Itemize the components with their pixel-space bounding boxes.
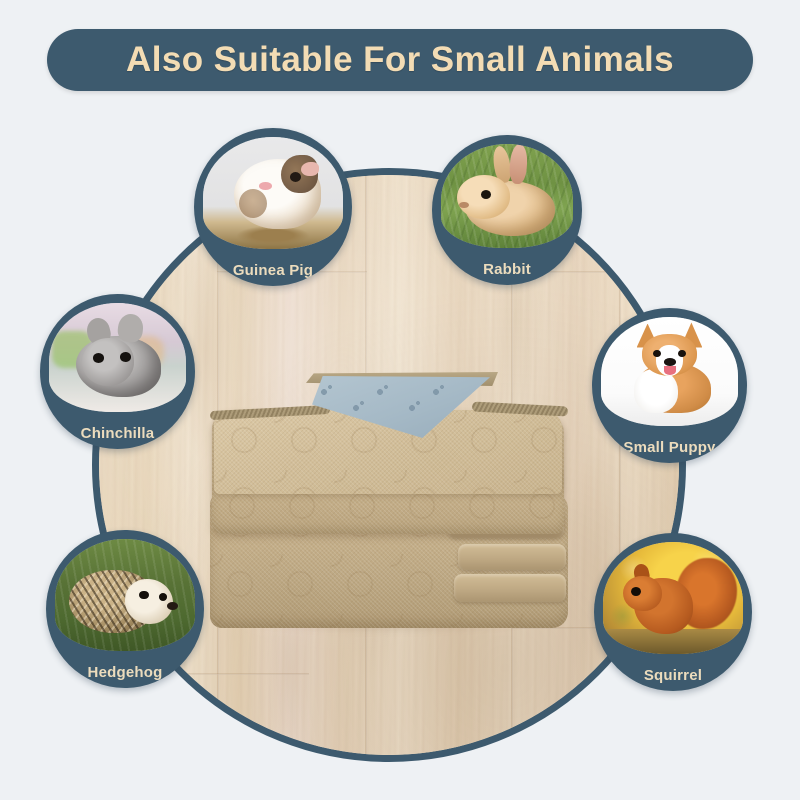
animal-head: [125, 579, 173, 624]
animal-ear: [116, 313, 143, 344]
animal-eye: [93, 353, 104, 363]
squirrel-photo: [603, 542, 743, 654]
photo-backdrop: [55, 539, 195, 651]
badge-label: Small Puppy: [592, 439, 747, 456]
animal-head: [623, 576, 662, 612]
badge-label: Guinea Pig: [194, 262, 352, 279]
badge-guinea-pig[interactable]: Guinea Pig: [194, 128, 352, 286]
animal-chest: [634, 369, 678, 413]
small-puppy-photo: [601, 317, 738, 426]
guinea-pig-photo: [203, 137, 343, 249]
badge-label: Hedgehog: [46, 664, 204, 681]
animal-nose: [259, 182, 272, 190]
animal-nose: [167, 602, 178, 610]
badge-chinchilla[interactable]: Chinchilla: [40, 294, 195, 449]
photo-backdrop: [49, 303, 186, 412]
title-banner: Also Suitable For Small Animals: [47, 29, 753, 91]
page-title: Also Suitable For Small Animals: [126, 40, 674, 80]
photo-backdrop: [203, 137, 343, 249]
animal-eye: [631, 587, 641, 596]
animal-eye: [139, 591, 149, 600]
badge-hedgehog[interactable]: Hedgehog: [46, 530, 204, 688]
animal-fur-patch: [239, 189, 267, 218]
badge-rabbit[interactable]: Rabbit: [432, 135, 582, 285]
hedgehog-photo: [55, 539, 195, 651]
product-image-blanket: [196, 368, 584, 658]
rabbit-photo: [441, 144, 573, 248]
animal-eye: [290, 172, 301, 182]
badge-squirrel[interactable]: Squirrel: [594, 533, 752, 691]
photo-backdrop: [441, 144, 573, 248]
animal-ear: [301, 162, 319, 177]
photo-backdrop: [601, 317, 738, 426]
blanket-fold-ridge: [458, 544, 566, 570]
animal-eye: [120, 352, 131, 362]
blanket-fold-ridge: [454, 574, 566, 602]
badge-label: Squirrel: [594, 667, 752, 684]
animal-tongue: [664, 366, 676, 375]
badge-small-puppy[interactable]: Small Puppy: [592, 308, 747, 463]
animal-head: [82, 338, 134, 386]
infographic-canvas: Also Suitable For Small Animals: [0, 0, 800, 800]
badge-label: Chinchilla: [40, 425, 195, 442]
chinchilla-photo: [49, 303, 186, 412]
photo-backdrop: [603, 542, 743, 654]
animal-eye: [159, 593, 167, 601]
badge-label: Rabbit: [432, 261, 582, 278]
